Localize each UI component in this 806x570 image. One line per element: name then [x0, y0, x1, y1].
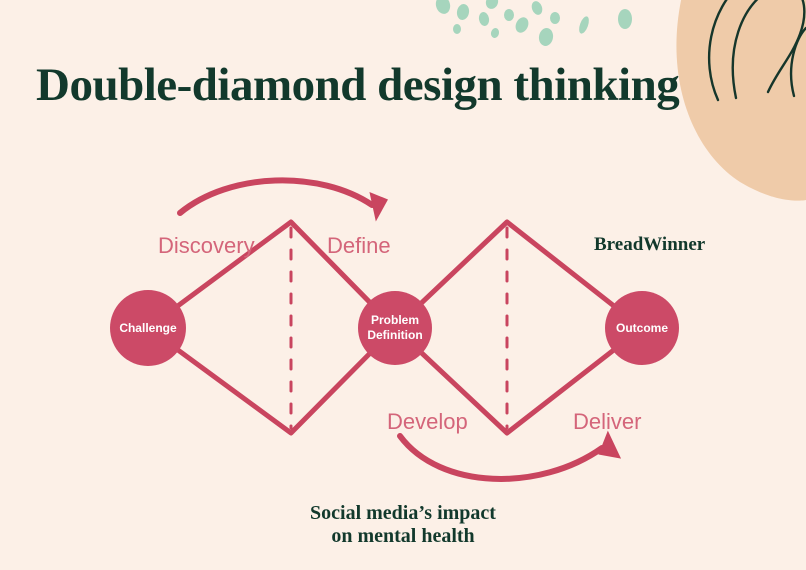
- slide-canvas: Double-diamond design thinking Discovery…: [0, 0, 806, 570]
- node-label-outcome: Outcome: [592, 321, 692, 336]
- dot-icon: [618, 9, 632, 29]
- dot-icon: [453, 24, 461, 34]
- phase-label-deliver: Deliver: [573, 409, 641, 435]
- dot-icon: [513, 15, 531, 35]
- peach-blob-shape: [676, 0, 806, 201]
- dot-icon: [577, 15, 591, 35]
- brand-label: BreadWinner: [594, 234, 705, 256]
- node-label-line: Outcome: [592, 321, 692, 336]
- node-label-problem-definition: Problem Definition: [345, 313, 445, 343]
- squiggle-icon: [709, 0, 742, 100]
- squiggle-icon: [791, 28, 806, 96]
- dot-icon: [550, 12, 560, 24]
- phase-label-define: Define: [327, 233, 391, 259]
- slide-caption: Social media’s impact on mental health: [0, 502, 806, 548]
- caption-line-1: Social media’s impact: [0, 502, 806, 525]
- dot-icon: [456, 3, 471, 21]
- arrow-develop-to-deliver-shaft: [400, 436, 602, 479]
- node-label-challenge: Challenge: [98, 321, 198, 336]
- dot-icon: [490, 27, 500, 39]
- squiggle-icon: [733, 0, 805, 98]
- dot-icon: [434, 0, 452, 16]
- node-label-line: Definition: [345, 328, 445, 343]
- dot-icon: [530, 0, 544, 16]
- arrow-discovery-to-define-head: [360, 192, 388, 223]
- dot-icon: [538, 27, 555, 47]
- caption-line-2: on mental health: [0, 525, 806, 548]
- dot-icon: [504, 9, 514, 21]
- node-label-line: Challenge: [98, 321, 198, 336]
- arrow-discovery-to-define-shaft: [180, 180, 372, 213]
- phase-label-discovery: Discovery: [158, 233, 255, 259]
- dot-icon: [478, 11, 490, 27]
- phase-label-develop: Develop: [387, 409, 468, 435]
- node-label-line: Problem: [345, 313, 445, 328]
- dot-icon: [484, 0, 500, 11]
- page-title: Double-diamond design thinking: [36, 58, 679, 112]
